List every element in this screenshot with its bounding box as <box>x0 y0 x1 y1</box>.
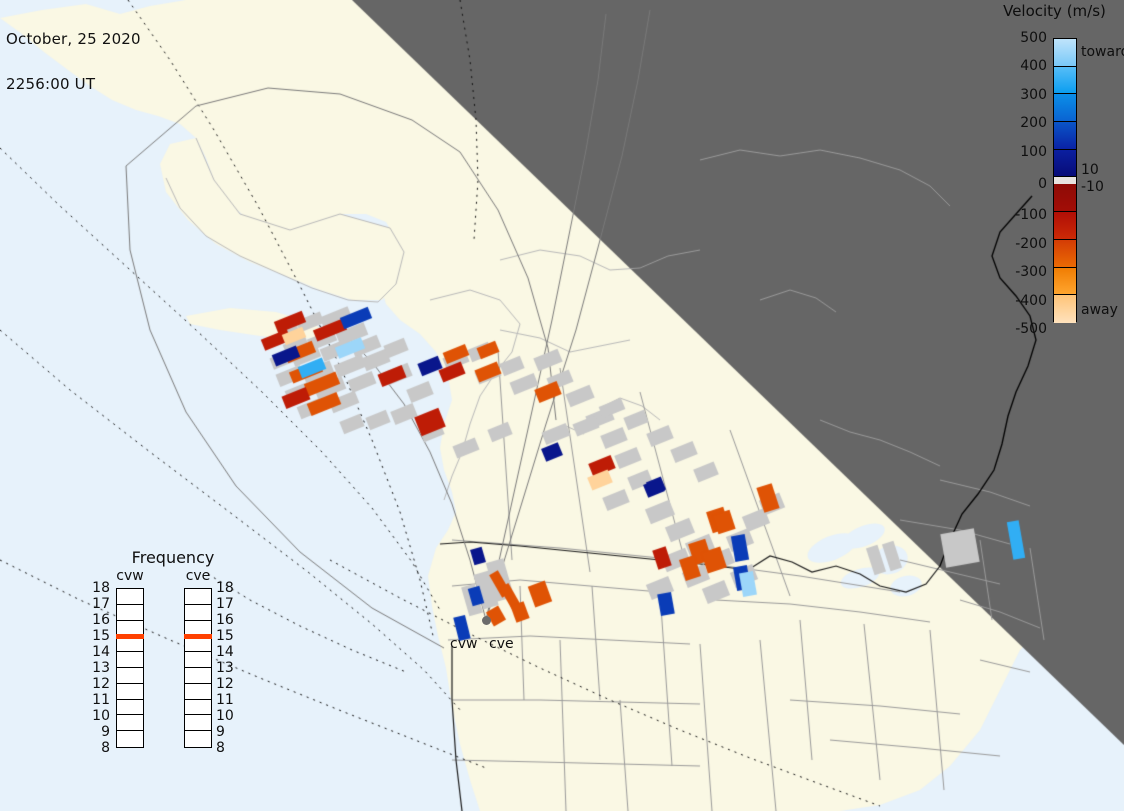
velocity-colorbar-ticks: 5004003002001000-100-200-300-400-500 <box>985 30 1047 330</box>
frequency-cell <box>117 731 143 747</box>
frequency-scale-value: 10 <box>216 709 238 723</box>
velocity-positive-threshold-label: 10 <box>1081 163 1099 177</box>
frequency-cell <box>117 605 143 621</box>
frequency-bar-cvw <box>116 588 144 748</box>
timestamp: October, 25 2020 2256:00 UT <box>6 2 141 122</box>
velocity-away-label: away <box>1081 303 1118 317</box>
velocity-colorbar: Velocity (m/s) 5004003002001000-100-200-… <box>985 0 1124 340</box>
velocity-tick-neg500: -500 <box>985 322 1047 336</box>
frequency-marker-cve <box>184 634 212 639</box>
frequency-scale-value: 15 <box>216 629 238 643</box>
velocity-tick-400: 400 <box>985 59 1047 73</box>
frequency-cell <box>185 731 211 747</box>
velocity-tick-300: 300 <box>985 88 1047 102</box>
velocity-tick-neg300: -300 <box>985 265 1047 279</box>
velocity-segment-9 <box>1054 295 1076 323</box>
frequency-scale-value: 13 <box>88 661 110 675</box>
radar-site-label-cve: cve <box>489 636 514 652</box>
velocity-toward-label: toward <box>1081 45 1124 59</box>
velocity-segment-4 <box>1054 150 1076 178</box>
frequency-scale-value: 12 <box>88 677 110 691</box>
frequency-cell <box>185 589 211 605</box>
velocity-tick-neg400: -400 <box>985 294 1047 308</box>
superdarn-velocity-map: October, 25 2020 2256:00 UT Velocity (m/… <box>0 0 1124 811</box>
frequency-column-label-cve: cve <box>180 568 216 584</box>
frequency-scale-value: 14 <box>216 645 238 659</box>
frequency-scale-value: 11 <box>216 693 238 707</box>
frequency-scale-value: 10 <box>88 709 110 723</box>
frequency-scale-value: 18 <box>216 581 238 595</box>
frequency-scale-value: 13 <box>216 661 238 675</box>
frequency-cell <box>185 715 211 731</box>
velocity-segment-8 <box>1054 268 1076 296</box>
velocity-zero-band <box>1053 177 1077 184</box>
velocity-tick-200: 200 <box>985 116 1047 130</box>
velocity-tick-0: 0 <box>985 177 1047 191</box>
frequency-scale-value: 15 <box>88 629 110 643</box>
velocity-tick-100: 100 <box>985 145 1047 159</box>
frequency-scale-value: 16 <box>216 613 238 627</box>
velocity-negative-threshold-label: -10 <box>1081 180 1104 194</box>
frequency-cell <box>117 715 143 731</box>
frequency-scale-value: 17 <box>88 597 110 611</box>
frequency-legend-title: Frequency <box>108 548 238 567</box>
velocity-segment-5 <box>1054 184 1076 212</box>
frequency-cell <box>117 589 143 605</box>
frequency-cell <box>185 700 211 716</box>
frequency-scale-value: 8 <box>88 741 110 755</box>
timestamp-time: 2256:00 UT <box>6 77 141 92</box>
velocity-tick-neg100: -100 <box>985 208 1047 222</box>
radar-site-label-cvw: cvw <box>450 636 477 652</box>
velocity-segment-0 <box>1054 39 1076 67</box>
frequency-cell <box>185 605 211 621</box>
frequency-scale-value: 9 <box>88 725 110 739</box>
frequency-scale-value: 8 <box>216 741 238 755</box>
frequency-cell <box>117 700 143 716</box>
frequency-cell <box>185 684 211 700</box>
frequency-marker-cvw <box>116 634 144 639</box>
frequency-bar-cve <box>184 588 212 748</box>
velocity-tick-500: 500 <box>985 31 1047 45</box>
velocity-segment-2 <box>1054 94 1076 122</box>
frequency-cell <box>185 668 211 684</box>
frequency-scale-value: 12 <box>216 677 238 691</box>
velocity-segment-1 <box>1054 67 1076 95</box>
velocity-colorbar-title: Velocity (m/s) <box>985 2 1124 20</box>
frequency-cell <box>117 652 143 668</box>
velocity-tick-neg200: -200 <box>985 237 1047 251</box>
frequency-scale-value: 11 <box>88 693 110 707</box>
frequency-cell <box>117 684 143 700</box>
frequency-scale-value: 14 <box>88 645 110 659</box>
velocity-segment-7 <box>1054 240 1076 268</box>
velocity-segment-3 <box>1054 122 1076 150</box>
frequency-cell <box>117 668 143 684</box>
frequency-cell <box>185 652 211 668</box>
frequency-column-label-cvw: cvw <box>112 568 148 584</box>
timestamp-date: October, 25 2020 <box>6 32 141 47</box>
radar-site-marker <box>482 616 491 625</box>
frequency-legend: Frequency cvw cve 18171615141312111098 1… <box>88 548 318 776</box>
frequency-scale-value: 16 <box>88 613 110 627</box>
frequency-scale-value: 18 <box>88 581 110 595</box>
frequency-scale-value: 9 <box>216 725 238 739</box>
frequency-scale-value: 17 <box>216 597 238 611</box>
velocity-segment-6 <box>1054 212 1076 240</box>
